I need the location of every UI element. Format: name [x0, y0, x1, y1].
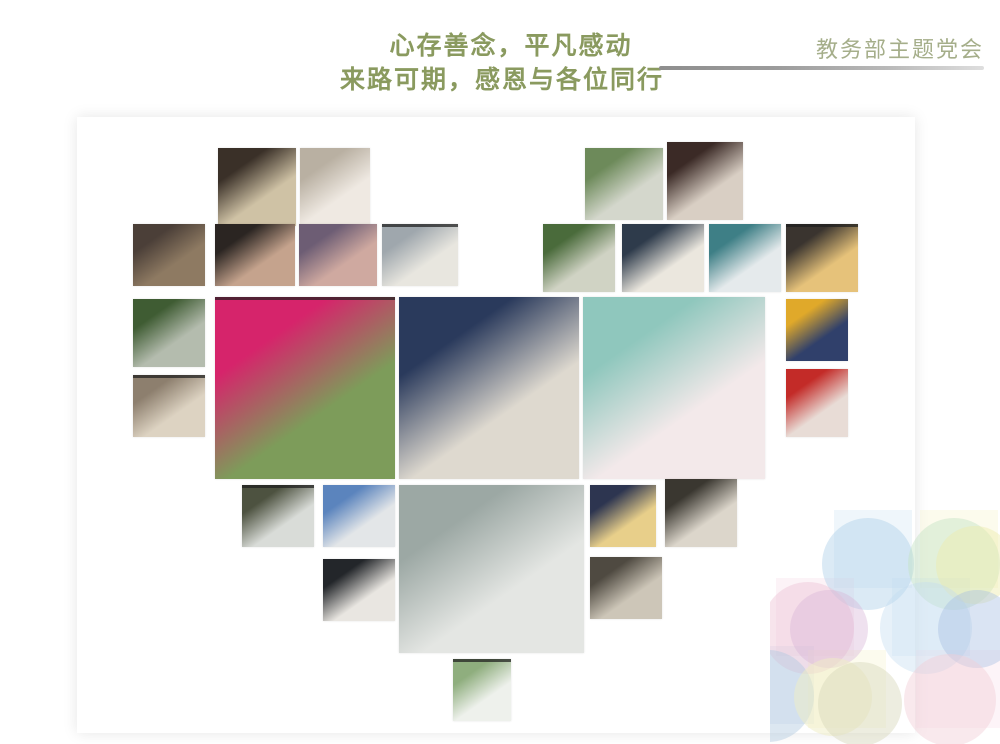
photo-edge-band	[786, 224, 858, 227]
collage-photo	[133, 299, 205, 367]
collage-photo	[382, 224, 458, 286]
photo-edge-band	[215, 297, 395, 300]
collage-photo	[399, 485, 584, 653]
collage-photo	[215, 224, 295, 286]
collage-photo	[215, 297, 395, 479]
decor-circle	[908, 518, 1000, 610]
photo-edge-band	[382, 224, 458, 227]
collage-photo	[300, 148, 370, 226]
collage-photo	[453, 659, 511, 721]
collage-photo	[667, 142, 743, 220]
collage-photo	[585, 148, 663, 220]
collage-photo	[786, 369, 848, 437]
collage-photo	[583, 297, 765, 479]
collage-photo	[665, 479, 737, 547]
collage-photo	[242, 485, 314, 547]
decor-square	[916, 650, 1000, 728]
content-panel	[77, 117, 915, 733]
collage-photo	[133, 375, 205, 437]
collage-photo	[323, 559, 395, 621]
decor-circle	[938, 590, 1000, 668]
corner-title: 教务部主题党会	[816, 32, 984, 64]
collage-photo	[590, 557, 662, 619]
collage-photo	[323, 485, 395, 547]
collage-photo	[786, 299, 848, 361]
photo-edge-band	[453, 659, 511, 662]
decor-circle	[936, 526, 1000, 604]
photo-edge-band	[242, 485, 314, 488]
collage-photo	[786, 224, 858, 292]
collage-photo	[133, 224, 205, 286]
collage-photo	[590, 485, 656, 547]
photo-edge-band	[133, 375, 205, 378]
corner-divider-line	[659, 66, 984, 70]
presentation-slide: 心存善念，平凡感动 来路可期，感恩与各位同行 教务部主题党会	[0, 0, 1000, 744]
collage-photo	[622, 224, 704, 292]
decor-circle	[904, 654, 996, 744]
heart-photo-collage	[77, 117, 915, 733]
collage-photo	[218, 148, 296, 226]
collage-photo	[709, 224, 781, 292]
collage-photo	[299, 224, 377, 286]
decor-square	[920, 510, 998, 588]
collage-photo	[399, 297, 579, 479]
collage-photo	[543, 224, 615, 292]
